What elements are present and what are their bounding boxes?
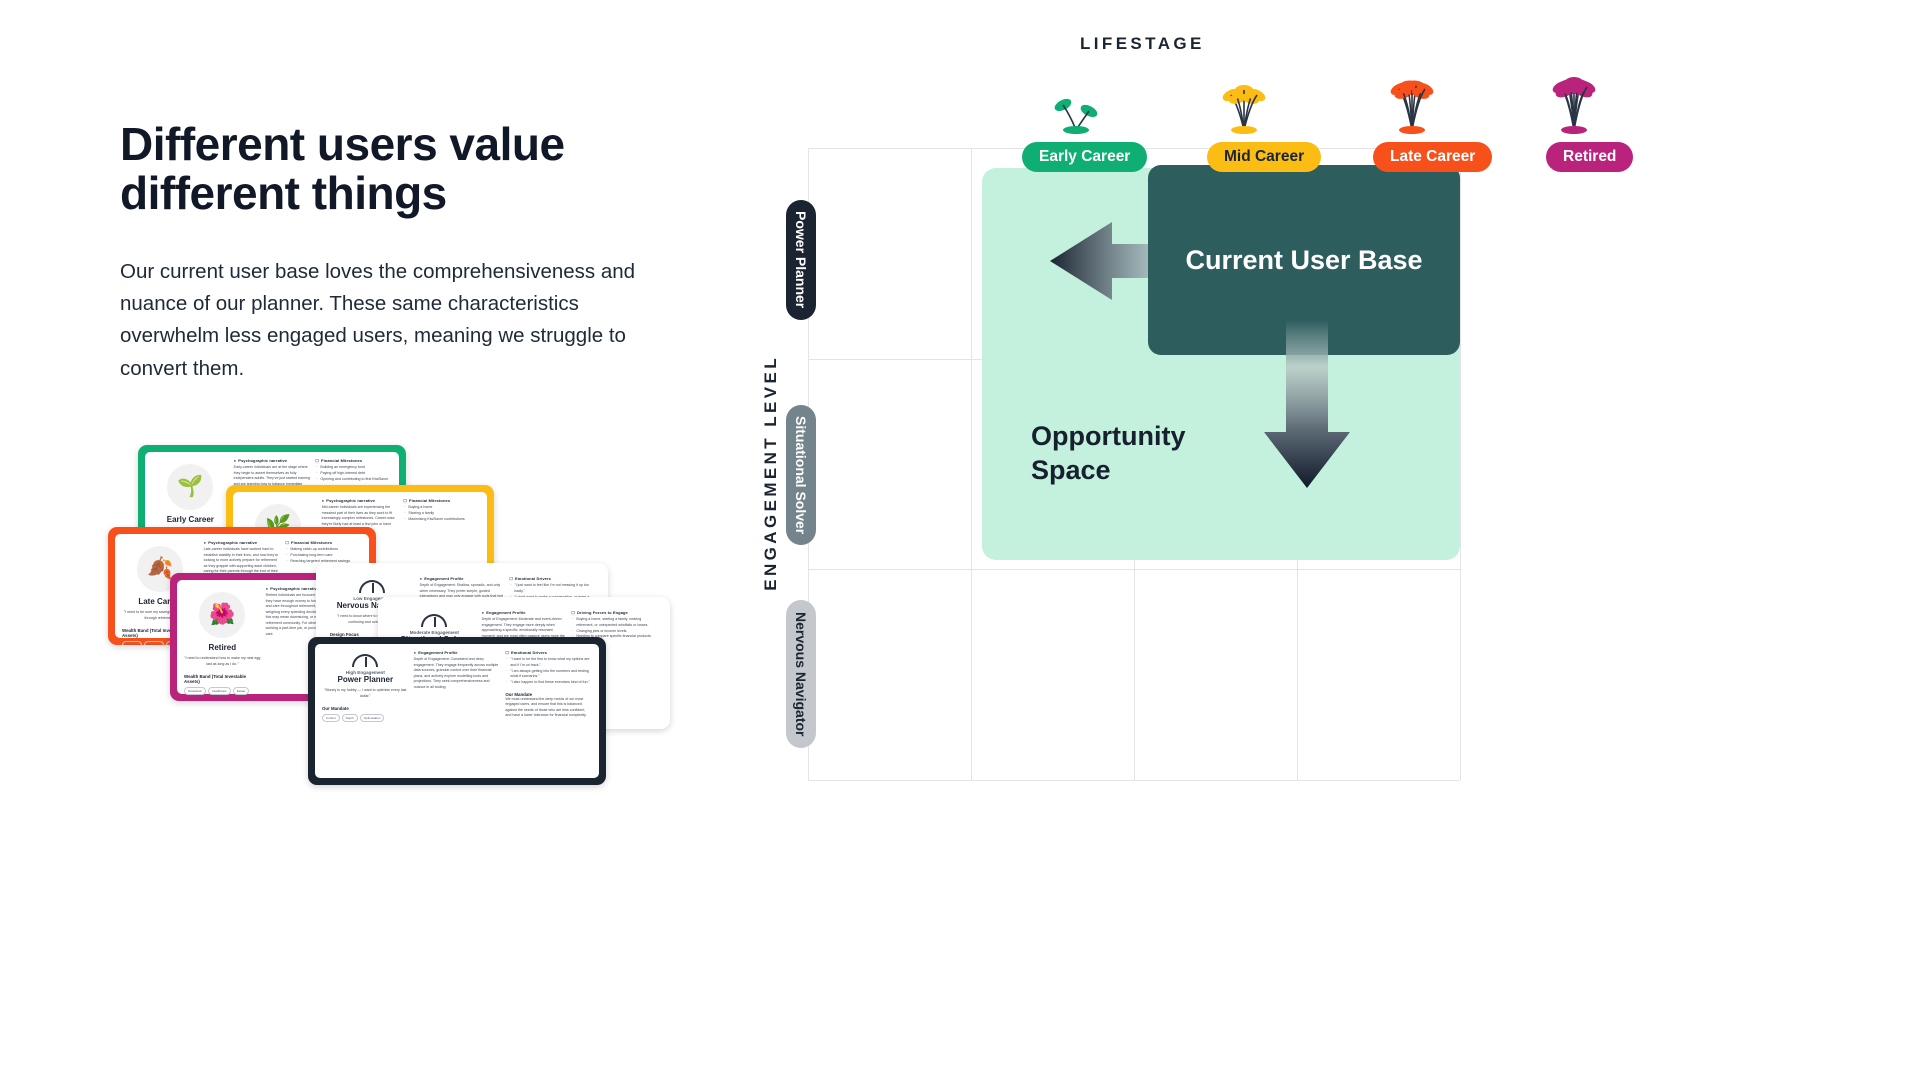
- card-narrative-heading: ●Engagement Profile: [482, 610, 567, 615]
- grid-hline: [808, 780, 1460, 781]
- card-quote: "I need to understand how to make my nes…: [184, 656, 261, 668]
- card-narrative-heading: ●Psychographic narrative: [204, 540, 281, 545]
- left-text-column: Different users value different things O…: [120, 120, 680, 385]
- card-title: Power Planner: [322, 675, 409, 684]
- person-icon: ●: [234, 458, 237, 463]
- card-chip: Control: [322, 714, 340, 722]
- card-milestone-item: Maximising KiwiSaver contributions: [403, 517, 480, 523]
- page-subcopy: Our current user base loves the comprehe…: [120, 256, 640, 386]
- engagement-badge-label: Power Planner: [793, 211, 809, 308]
- card-narrative-column: ●Engagement Profile Depth of Engagement:…: [414, 650, 501, 772]
- lifestage-badge-label: Mid Career: [1224, 148, 1304, 166]
- checklist-icon: ☐: [315, 458, 319, 463]
- grid-hline: [808, 569, 1460, 570]
- blooming-plant-icon: [1538, 72, 1610, 134]
- checklist-icon: ☐: [505, 650, 509, 655]
- checklist-icon: ☐: [285, 540, 289, 545]
- card-milestone-item: "I just want to feel like I'm not messin…: [509, 583, 594, 595]
- grid-vline: [971, 148, 972, 780]
- card-milestone-item: "I also happen to find these exercises k…: [505, 680, 592, 686]
- card-chip: Planning: [144, 641, 164, 646]
- card-narrative-heading: ●Psychographic narrative: [322, 498, 399, 503]
- card-milestones-column: ☐Emotional Drivers "I want to be the fir…: [505, 650, 592, 772]
- lifestage-badge-mid-career[interactable]: Mid Career: [1207, 142, 1321, 172]
- person-icon: ●: [322, 498, 325, 503]
- lifestage-badge-label: Late Career: [1390, 148, 1475, 166]
- card-gauge-icon: [352, 654, 378, 667]
- card-subhead: Our Mandate: [322, 706, 409, 711]
- lifestage-badge-retired[interactable]: Retired: [1546, 142, 1633, 172]
- current-user-base-label: Current User Base: [1185, 245, 1422, 276]
- card-milestones-heading: ☐Financial Milestones: [285, 540, 362, 545]
- lifestage-badge-label: Early Career: [1039, 148, 1130, 166]
- slide-root: Different users value different things O…: [0, 0, 1920, 1080]
- card-narrative-heading: ●Psychographic narrative: [234, 458, 311, 463]
- card-chip: Drawdown: [184, 687, 206, 695]
- card-chip-row: DrawdownHealthcareEstate: [184, 687, 261, 695]
- card-plant-icon: 🌺: [199, 592, 245, 638]
- card-narrative-heading: ●Engagement Profile: [420, 576, 505, 581]
- power-planner-card[interactable]: High Engagement Power Planner "Money is …: [308, 637, 606, 785]
- person-icon: ●: [204, 540, 207, 545]
- card-chip: Estate: [233, 687, 250, 695]
- lifestage-badge-label: Retired: [1563, 148, 1616, 166]
- page-title: Different users value different things: [120, 120, 620, 218]
- card-identity-column: 🌺 Retired "I need to understand how to m…: [184, 586, 261, 688]
- checklist-icon: ☐: [571, 610, 575, 615]
- arrow-down-icon: [1264, 320, 1350, 488]
- person-icon: ●: [266, 586, 269, 591]
- engagement-badge-power-planner[interactable]: Power Planner: [786, 200, 816, 320]
- card-identity-column: High Engagement Power Planner "Money is …: [322, 650, 409, 772]
- engagement-badge-nervous-navigator[interactable]: Nervous Navigator: [786, 600, 816, 748]
- card-gauge-icon: [359, 580, 385, 593]
- card-title: Retired: [184, 643, 261, 652]
- mature-plant-icon: [1376, 72, 1448, 134]
- card-chip: Depth: [342, 714, 358, 722]
- card-narrative-heading: ●Engagement Profile: [414, 650, 501, 655]
- card-milestone-item: Opening and contributing to first KiwiSa…: [315, 477, 392, 483]
- card-mandate-text: We must understand the deep needs of our…: [505, 697, 592, 719]
- card-chip: Healthcare: [208, 687, 231, 695]
- persona-card-stack[interactable]: 🌱 Early Career "I need to understand the…: [130, 535, 790, 985]
- engagement-badge-label: Situational Solver: [793, 416, 809, 534]
- opportunity-space-label: Opportunity Space: [1031, 420, 1185, 488]
- card-milestones-heading: ☐Driving Forces to Engage: [571, 610, 656, 615]
- card-subhead: Wealth Band (Total Investable Assets): [184, 674, 261, 684]
- card-title: Early Career: [152, 515, 229, 524]
- person-icon: ●: [414, 650, 417, 655]
- grid-vline: [1460, 148, 1461, 780]
- card-identity-column: 🌱 Early Career "I need to understand the…: [152, 458, 229, 537]
- card-milestone-item: "I am always getting into the numbers an…: [505, 669, 592, 681]
- card-milestones-heading: ☐Financial Milestones: [403, 498, 480, 503]
- card-chip: Optimisation: [360, 714, 385, 722]
- young-plant-icon: [1208, 72, 1280, 134]
- card-gauge-icon: [421, 614, 447, 627]
- checklist-icon: ☐: [509, 576, 513, 581]
- card-narrative-text: Depth of Engagement: Consistent and deep…: [414, 657, 501, 690]
- card-plant-icon: 🌱: [167, 464, 213, 510]
- card-chip: Catch-up: [122, 641, 142, 646]
- y-axis-title: ENGAGEMENT LEVEL: [761, 355, 781, 591]
- card-quote: "Money is my hobby — I want to optimise …: [322, 688, 409, 700]
- card-milestones-heading: ☐Emotional Drivers: [505, 650, 592, 655]
- checklist-icon: ☐: [403, 498, 407, 503]
- card-chip-row: ControlDepthOptimisation: [322, 714, 409, 722]
- card-milestones-heading: ☐Financial Milestones: [315, 458, 392, 463]
- lifestage-badge-early-career[interactable]: Early Career: [1022, 142, 1147, 172]
- lifestage-badge-late-career[interactable]: Late Career: [1373, 142, 1492, 172]
- engagement-badge-label: Nervous Navigator: [793, 612, 809, 736]
- person-icon: ●: [420, 576, 423, 581]
- card-milestone-item: Buying a home, starting a family, nearin…: [571, 617, 656, 629]
- seedling-plant-icon: [1040, 72, 1112, 134]
- person-icon: ●: [482, 610, 485, 615]
- x-axis-title: LIFESTAGE: [1080, 34, 1205, 54]
- card-milestones-heading: ☐Emotional Drivers: [509, 576, 594, 581]
- engagement-badge-situational-solver[interactable]: Situational Solver: [786, 405, 816, 545]
- card-milestone-item: "I want to be the first to know what my …: [505, 657, 592, 669]
